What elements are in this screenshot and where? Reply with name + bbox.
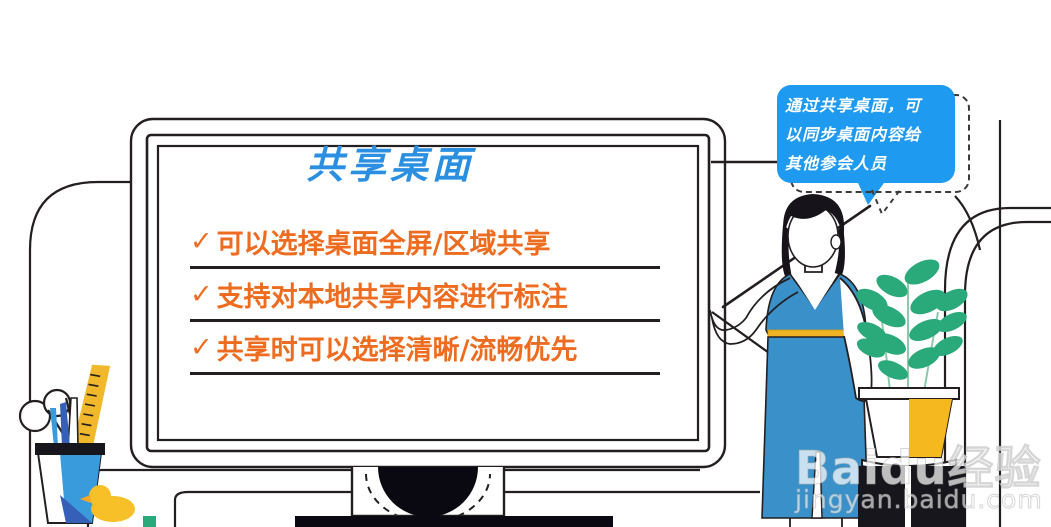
speech-bubble-line: 其他参会人员 <box>785 149 947 178</box>
bullet-row: ✓ 共享时可以选择清晰/流畅优先 <box>190 322 660 375</box>
woman-presenter <box>710 194 872 527</box>
cabinet-divider <box>905 466 911 527</box>
monitor-base <box>295 516 613 527</box>
plant-pot-rim <box>859 388 959 399</box>
screen-bullet-list: ✓ 可以选择桌面全屏/区域共享 ✓ 支持对本地共享内容进行标注 ✓ 共享时可以选… <box>190 216 660 375</box>
speech-bubble-line: 通过共享桌面，可 <box>785 91 947 120</box>
bullet-row: ✓ 可以选择桌面全屏/区域共享 <box>190 216 660 269</box>
pencil-cup-band <box>35 443 105 455</box>
check-icon: ✓ <box>190 281 213 308</box>
illustration-canvas: 共享桌面 ✓ 可以选择桌面全屏/区域共享 ✓ 支持对本地共享内容进行标注 ✓ 共… <box>0 0 1051 527</box>
bullet-text: 可以选择桌面全屏/区域共享 <box>217 222 551 261</box>
speech-bubble: 通过共享桌面，可 以同步桌面内容给 其他参会人员 <box>777 85 955 183</box>
speech-bubble-line: 以同步桌面内容给 <box>785 120 947 149</box>
panel-right-outline-2 <box>965 222 1051 527</box>
green-block <box>143 516 156 527</box>
bullet-text: 共享时可以选择清晰/流畅优先 <box>217 328 578 367</box>
presenter-ear <box>831 235 841 249</box>
screen-title: 共享桌面 <box>150 146 630 184</box>
black-cabinet <box>858 466 966 527</box>
check-icon: ✓ <box>190 334 213 361</box>
cabinet-body <box>858 466 966 527</box>
bullet-row: ✓ 支持对本地共享内容进行标注 <box>190 269 660 322</box>
check-icon: ✓ <box>190 228 213 255</box>
bullet-text: 支持对本地共享内容进行标注 <box>217 275 568 314</box>
